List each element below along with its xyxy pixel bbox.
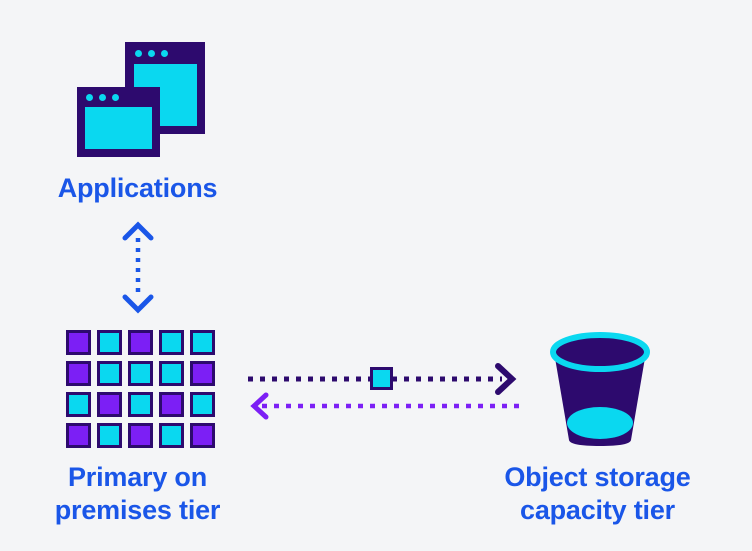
grid-tile: [128, 361, 153, 386]
grid-tile: [66, 423, 91, 448]
grid-tile: [128, 330, 153, 355]
grid-tile: [97, 330, 122, 355]
grid-tile: [190, 423, 215, 448]
data-block-marker: [370, 367, 393, 390]
grid-tile: [128, 392, 153, 417]
grid-tile: [66, 361, 91, 386]
window-back-dot-2: [148, 50, 155, 57]
window-back-dot-3: [161, 50, 168, 57]
diagram-canvas: Applications Primary: [0, 0, 752, 551]
object-storage-label: Object storage capacity tier: [455, 461, 740, 527]
applications-label: Applications: [0, 172, 275, 205]
bucket-fill: [567, 407, 633, 439]
primary-tier-label: Primary on premises tier: [0, 461, 275, 527]
grid-tile: [66, 392, 91, 417]
grid-tile: [97, 361, 122, 386]
application-windows-icon: [77, 42, 205, 157]
bidirectional-vertical-arrow: [112, 220, 164, 315]
grid-tile: [159, 423, 184, 448]
grid-tile: [190, 392, 215, 417]
grid-tile: [190, 330, 215, 355]
bucket-rim: [553, 335, 647, 369]
grid-tile: [97, 392, 122, 417]
window-front-dot-1: [86, 94, 93, 101]
grid-tile: [190, 361, 215, 386]
grid-tile: [97, 423, 122, 448]
window-front-dot-2: [99, 94, 106, 101]
grid-tile: [159, 361, 184, 386]
storage-grid-icon: [66, 330, 215, 448]
storage-bucket-icon: [545, 330, 655, 450]
grid-tile: [159, 392, 184, 417]
grid-tile: [128, 423, 153, 448]
window-front-screen: [85, 107, 152, 149]
window-back-dot-1: [135, 50, 142, 57]
window-front-dot-3: [112, 94, 119, 101]
grid-tile: [159, 330, 184, 355]
grid-tile: [66, 330, 91, 355]
